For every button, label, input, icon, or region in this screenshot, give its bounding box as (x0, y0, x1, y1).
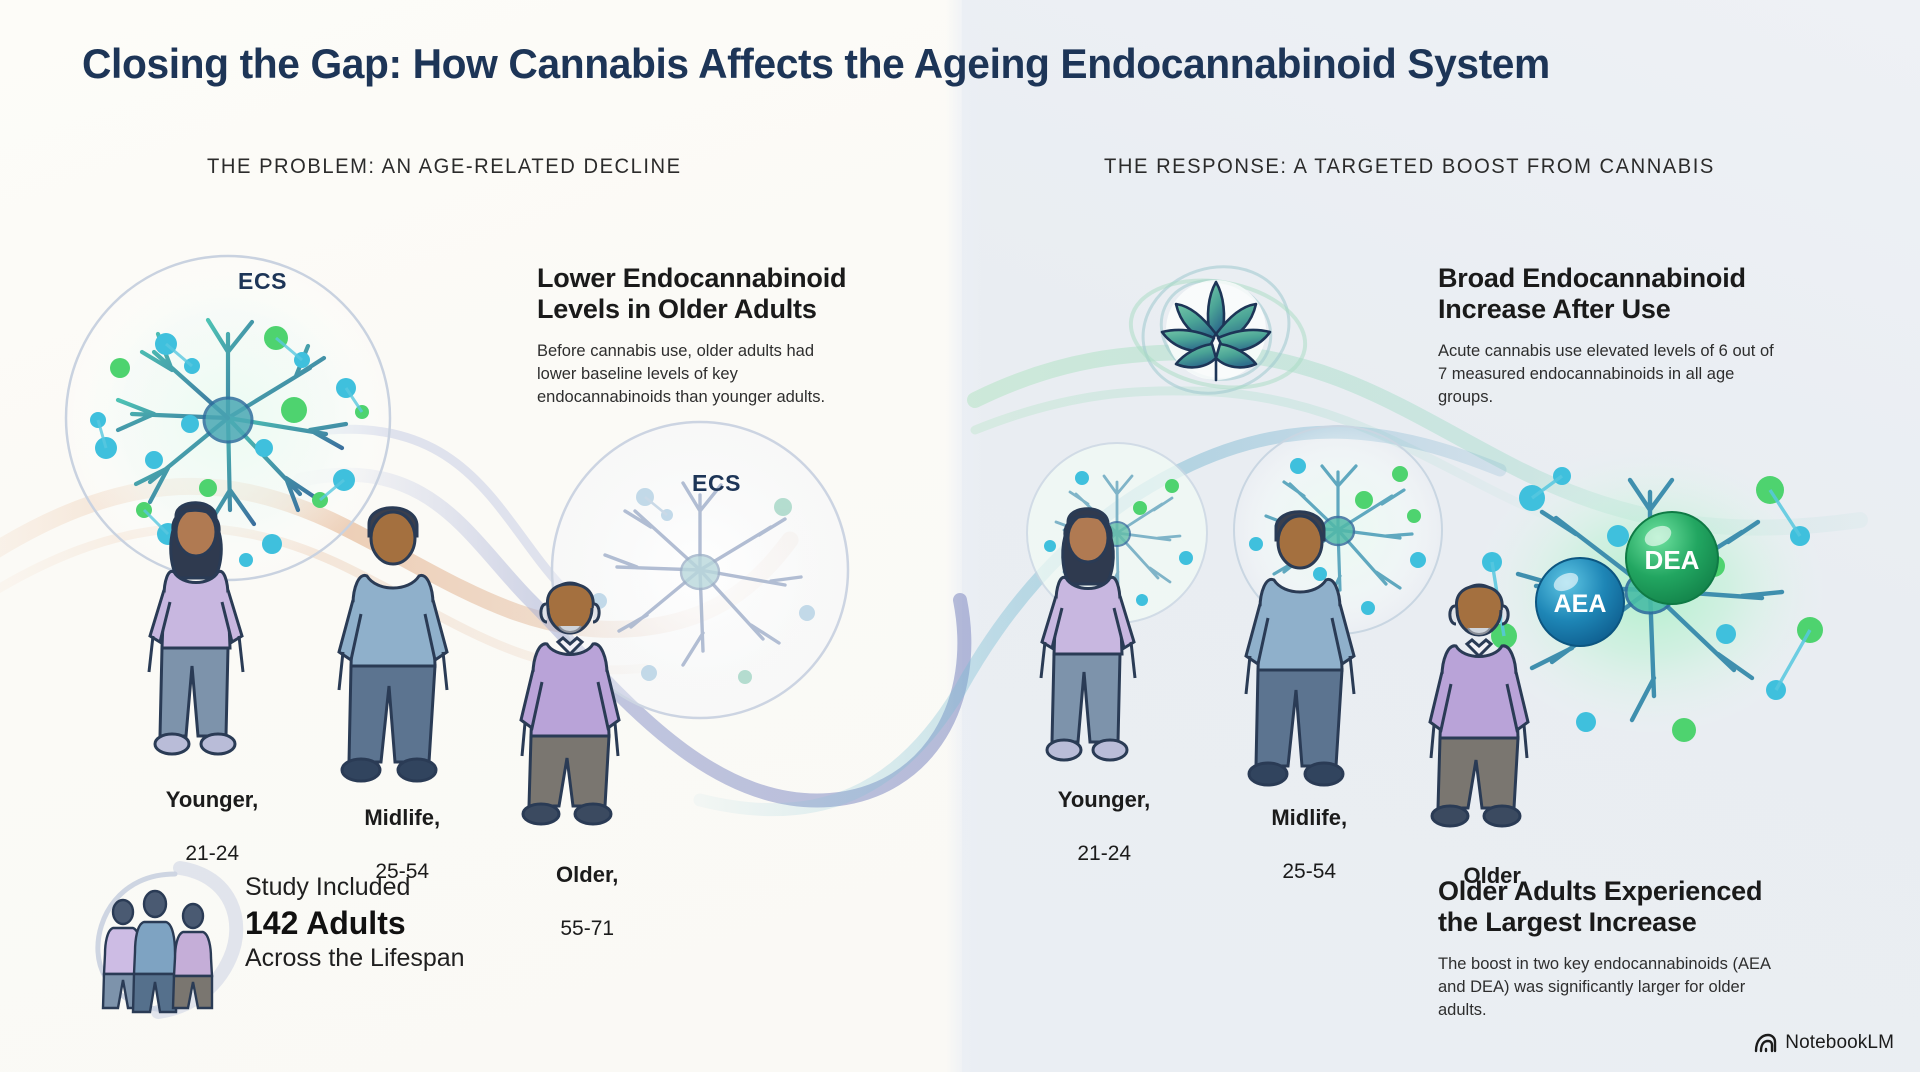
person-label-midlife-right: Midlife, 25-54 (1202, 778, 1392, 912)
ecs-label-dense: ECS (238, 268, 287, 295)
stat-line-1: Study Included (245, 873, 525, 903)
left-heading: Lower Endocannabinoid Levels in Older Ad… (537, 263, 849, 326)
person-younger-left (140, 486, 252, 766)
person-older-right (1424, 570, 1536, 835)
person-midlife-left (333, 490, 451, 790)
left-text-block: Lower Endocannabinoid Levels in Older Ad… (537, 263, 849, 410)
ecs-label-sparse: ECS (692, 470, 741, 497)
person-label-older-right: Older (1400, 836, 1560, 916)
person-older-left (515, 568, 627, 833)
stat-line-3: Across the Lifespan (245, 943, 525, 973)
notebooklm-watermark: NotebookLM (1753, 1032, 1894, 1054)
molecule-aea: AEA (1536, 558, 1624, 646)
page-title: Closing the Gap: How Cannabis Affects th… (82, 40, 1789, 88)
left-body: Before cannabis use, older adults had lo… (537, 340, 849, 410)
stat-line-2: 142 Adults (245, 904, 525, 942)
watermark-label: NotebookLM (1785, 1032, 1894, 1054)
molecule-aea-label: AEA (1554, 590, 1607, 618)
right-top-body: Acute cannabis use elevated levels of 6 … (1438, 340, 1783, 410)
notebooklm-spiral-icon (1753, 1032, 1777, 1054)
right-top-text-block: Broad Endocannabinoid Increase After Use… (1438, 263, 1783, 410)
infographic-canvas: Closing the Gap: How Cannabis Affects th… (0, 0, 1920, 1072)
right-top-heading: Broad Endocannabinoid Increase After Use (1438, 263, 1783, 326)
person-midlife-right (1240, 494, 1358, 794)
person-younger-right (1032, 492, 1144, 772)
cannabis-leaf-emblem (1098, 238, 1328, 428)
section-header-left: THE PROBLEM: AN AGE-RELATED DECLINE (207, 155, 682, 179)
study-cohort-icon (80, 862, 270, 1022)
person-label-younger-right: Younger, 21-24 (1002, 760, 1182, 894)
study-stat-block: Study Included 142 Adults Across the Lif… (245, 873, 525, 973)
molecule-dea: DEA (1626, 512, 1718, 604)
section-header-right: THE RESPONSE: A TARGETED BOOST FROM CANN… (1104, 155, 1715, 179)
right-bottom-body: The boost in two key endocannabinoids (A… (1438, 953, 1793, 1023)
molecule-dea-label: DEA (1645, 545, 1700, 575)
